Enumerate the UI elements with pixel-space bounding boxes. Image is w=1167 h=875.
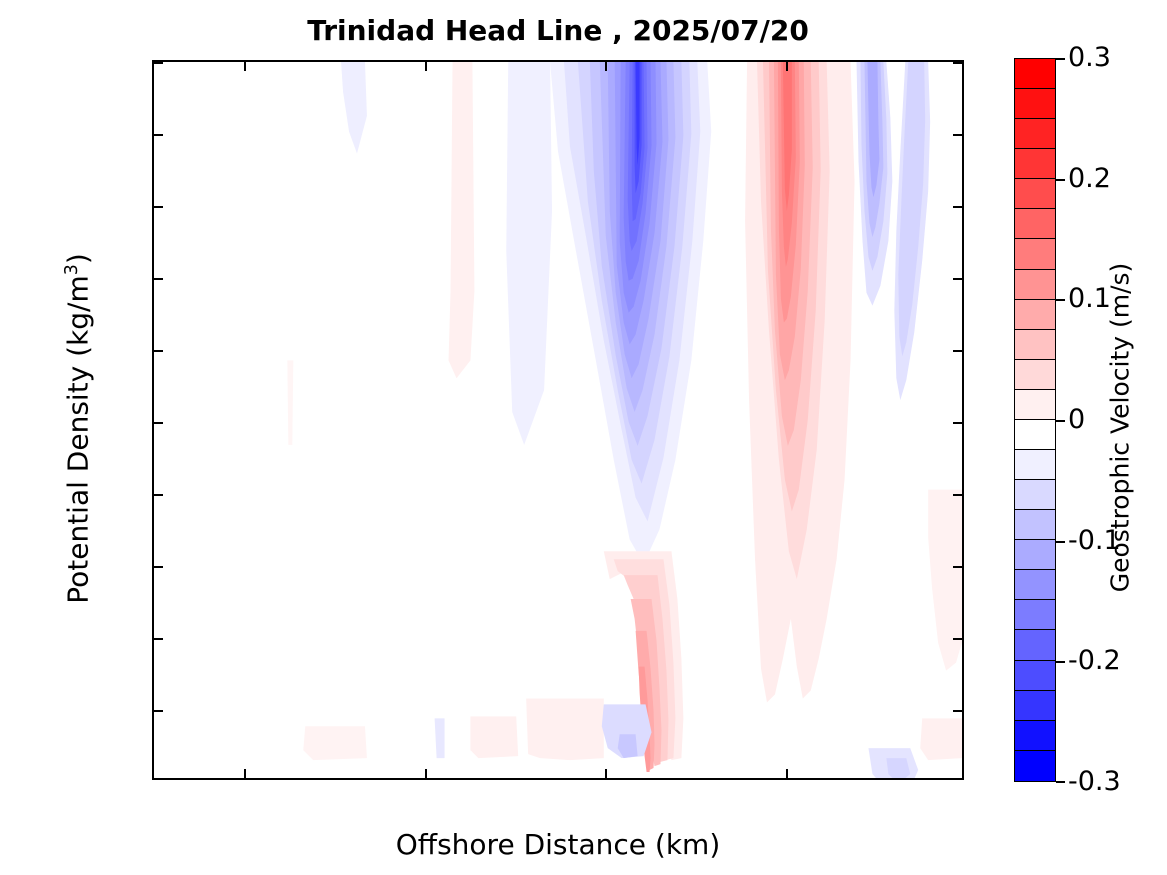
y-tick-25.8 (154, 350, 163, 352)
contour-field (154, 62, 962, 778)
colorbar-label-0.2: 0.2 (1068, 165, 1111, 192)
colorbar-band-3 (1015, 149, 1055, 179)
y-tick-26.8-r (953, 710, 962, 712)
y-tick-25.2-r (953, 134, 962, 136)
y-tick-25.6-r (953, 278, 962, 280)
colorbar-band-17 (1015, 570, 1055, 600)
colorbar-band-5 (1015, 209, 1055, 239)
colorbar-band-8 (1015, 300, 1055, 330)
colorbar-label-0.3: 0.3 (1068, 44, 1111, 71)
colorbar-label-0.1: 0.1 (1068, 285, 1111, 312)
x-tick-200 (605, 769, 607, 778)
y-axis-title-superscript: 3 (62, 264, 82, 275)
x-tick-300-t (425, 62, 427, 71)
figure-canvas: Trinidad Head Line , 2025/07/20 (0, 0, 1167, 875)
y-tick-26.8 (154, 710, 163, 712)
colorbar-title: Geostrophic Velocity (m/s) (1106, 188, 1135, 668)
y-tick-26-r (953, 422, 962, 424)
y-tick-25.2 (154, 134, 163, 136)
x-tick-100 (786, 769, 788, 778)
y-tick-25.8-r (953, 350, 962, 352)
colorbar-band-22 (1015, 721, 1055, 751)
colorbar-band-19 (1015, 630, 1055, 660)
y-tick-26.2-r (953, 494, 962, 496)
colorbar-tick--0.3 (1056, 781, 1065, 783)
y-tick-26.2 (154, 494, 163, 496)
colorbar-band-16 (1015, 540, 1055, 570)
x-tick-400-t (244, 62, 246, 71)
feature-sliver-410km (287, 360, 293, 445)
colorbar-label-0: 0 (1068, 406, 1085, 433)
x-tick-300 (425, 769, 427, 778)
y-tick-25.6 (154, 278, 163, 280)
colorbar-band-2 (1015, 119, 1055, 149)
y-tick-25-r (953, 62, 962, 64)
y-axis-title-suffix: ) (62, 253, 95, 264)
colorbar-tick-0 (1056, 420, 1065, 422)
colorbar-band-13 (1015, 450, 1055, 480)
x-tick-400 (244, 769, 246, 778)
y-axis-title-prefix: Potential Density (kg/m (62, 275, 95, 604)
colorbar-tick-0.2 (1056, 179, 1065, 181)
colorbar-band-11 (1015, 390, 1055, 420)
feature-pink-patch-370km (303, 726, 367, 760)
x-tick-200-t (605, 62, 607, 71)
colorbar-band-15 (1015, 510, 1055, 540)
colorbar-band-23 (1015, 751, 1055, 781)
colorbar-band-9 (1015, 330, 1055, 360)
colorbar-band-14 (1015, 480, 1055, 510)
colorbar-band-7 (1015, 270, 1055, 300)
colorbar-tick--0.2 (1056, 661, 1065, 663)
colorbar-band-18 (1015, 600, 1055, 630)
x-tick-100-t (786, 62, 788, 71)
colorbar-band-4 (1015, 179, 1055, 209)
colorbar-tick-0.3 (1056, 58, 1065, 60)
colorbar-band-21 (1015, 691, 1055, 721)
feature-pink-band-300km (449, 62, 475, 378)
colorbar-band-20 (1015, 661, 1055, 691)
y-tick-25 (154, 62, 163, 64)
colorbar-band-10 (1015, 360, 1055, 390)
colorbar-band-0 (1015, 59, 1055, 89)
y-tick-26.6 (154, 638, 163, 640)
colorbar-label--0.3: -0.3 (1068, 768, 1121, 795)
colorbar-band-12 (1015, 420, 1055, 450)
y-tick-26.4 (154, 566, 163, 568)
y-tick-25.4 (154, 206, 163, 208)
y-tick-26.6-r (953, 638, 962, 640)
y-tick-25.4-r (953, 206, 962, 208)
chart-title: Trinidad Head Line , 2025/07/20 (152, 14, 964, 47)
colorbar-tick-0.1 (1056, 299, 1065, 301)
colorbar-tick--0.1 (1056, 541, 1065, 543)
plot-axes: 25 25.2 25.4 25.6 25.8 26 26.2 26.4 26.6… (152, 60, 964, 780)
colorbar[interactable] (1014, 58, 1056, 782)
contour-svg (154, 62, 962, 778)
y-tick-26 (154, 422, 163, 424)
colorbar-band-6 (1015, 239, 1055, 269)
colorbar-band-1 (1015, 89, 1055, 119)
y-tick-26.4-r (953, 566, 962, 568)
x-axis-title: Offshore Distance (km) (152, 828, 964, 861)
y-axis-title: Potential Density (kg/m3) (62, 89, 95, 769)
